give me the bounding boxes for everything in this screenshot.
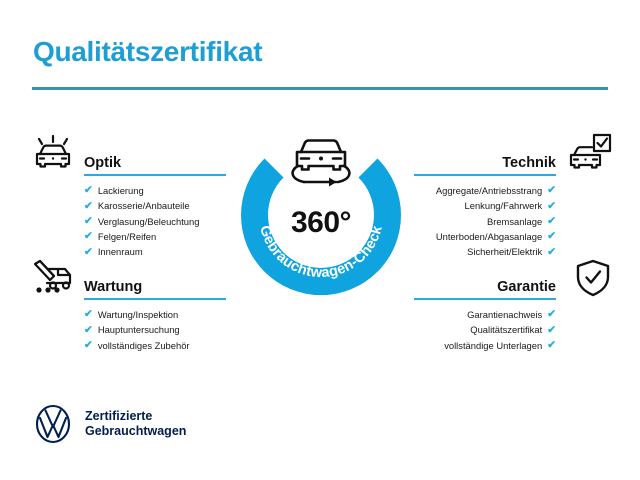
section-wartung-list: ✔Wartung/Inspektion ✔Hauptuntersuchung ✔… (84, 307, 224, 353)
section-technik: Technik Aggregate/Antriebsstrang✔ Lenkun… (416, 148, 556, 259)
check-icon: ✔ (84, 185, 93, 196)
list-item-label: Hauptuntersuchung (98, 322, 180, 337)
list-item-label: Sicherheit/Elektrik (467, 244, 542, 259)
list-item: Unterboden/Abgasanlage✔ (416, 229, 556, 244)
section-garantie: Garantie Garantienachweis✔ Qualitätszert… (416, 272, 556, 353)
section-optik-list: ✔Lackierung ✔Karosserie/Anbauteile ✔Verg… (84, 183, 224, 259)
list-item: Lenkung/Fahrwerk✔ (416, 198, 556, 213)
list-item-label: Lenkung/Fahrwerk (465, 198, 543, 213)
section-wartung-header: Wartung (84, 272, 224, 298)
footer-line-1: Zertifizierte (85, 409, 186, 424)
check-icon: ✔ (547, 201, 556, 212)
list-item-label: Unterboden/Abgasanlage (436, 229, 542, 244)
shield-check-icon (570, 257, 616, 299)
car-service-tool-icon (30, 257, 76, 299)
section-wartung-title: Wartung (84, 279, 142, 295)
section-optik-title: Optik (84, 155, 121, 171)
check-icon: ✔ (547, 309, 556, 320)
list-item: ✔Hauptuntersuchung (84, 322, 224, 337)
list-item: ✔Innenraum (84, 244, 224, 259)
list-item: vollständige Unterlagen✔ (416, 338, 556, 353)
section-garantie-list: Garantienachweis✔ Qualitätszertifikat✔ v… (416, 307, 556, 353)
check-icon: ✔ (84, 231, 93, 242)
list-item: ✔Karosserie/Anbauteile (84, 198, 224, 213)
list-item: ✔Verglasung/Beleuchtung (84, 214, 224, 229)
section-garantie-header: Garantie (416, 272, 556, 298)
section-wartung: Wartung ✔Wartung/Inspektion ✔Hauptunters… (84, 272, 224, 353)
car-shine-icon (30, 131, 76, 173)
list-item: ✔Felgen/Reifen (84, 229, 224, 244)
section-technik-title: Technik (502, 155, 556, 171)
car-checkbox-icon (566, 131, 612, 173)
title-divider (32, 87, 608, 90)
list-item-label: Lackierung (98, 183, 144, 198)
check-icon: ✔ (84, 247, 93, 258)
list-item: ✔Lackierung (84, 183, 224, 198)
check-icon: ✔ (84, 309, 93, 320)
check-icon: ✔ (547, 247, 556, 258)
volkswagen-logo (33, 404, 73, 444)
list-item: ✔vollständiges Zubehör (84, 338, 224, 353)
footer-line-2: Gebrauchtwagen (85, 424, 186, 439)
footer-brand: Zertifizierte Gebrauchtwagen (33, 404, 186, 444)
check-icon: ✔ (547, 231, 556, 242)
section-garantie-divider (414, 298, 556, 300)
section-technik-header: Technik (416, 148, 556, 174)
list-item-label: Innenraum (98, 244, 143, 259)
list-item-label: vollständige Unterlagen (444, 338, 542, 353)
list-item-label: Qualitätszertifikat (470, 322, 542, 337)
list-item: Garantienachweis✔ (416, 307, 556, 322)
list-item-label: Wartung/Inspektion (98, 307, 178, 322)
list-item: Qualitätszertifikat✔ (416, 322, 556, 337)
list-item-label: Karosserie/Anbauteile (98, 198, 190, 213)
page-title: Qualitätszertifikat (33, 36, 262, 68)
check-icon: ✔ (84, 340, 93, 351)
list-item-label: Aggregate/Antriebsstrang (436, 183, 542, 198)
check-icon: ✔ (84, 216, 93, 227)
check-icon: ✔ (84, 325, 93, 336)
list-item-label: vollständiges Zubehör (98, 338, 190, 353)
list-item-label: Verglasung/Beleuchtung (98, 214, 200, 229)
section-garantie-title: Garantie (497, 279, 556, 295)
list-item-label: Garantienachweis (467, 307, 542, 322)
section-optik-divider (84, 174, 226, 176)
section-technik-list: Aggregate/Antriebsstrang✔ Lenkung/Fahrwe… (416, 183, 556, 259)
list-item-label: Felgen/Reifen (98, 229, 156, 244)
list-item: Sicherheit/Elektrik✔ (416, 244, 556, 259)
section-optik: Optik ✔Lackierung ✔Karosserie/Anbauteile… (84, 148, 224, 259)
badge-value: 360° (228, 206, 414, 240)
check-icon: ✔ (547, 340, 556, 351)
list-item: ✔Wartung/Inspektion (84, 307, 224, 322)
section-technik-divider (414, 174, 556, 176)
section-wartung-divider (84, 298, 226, 300)
check-icon: ✔ (547, 325, 556, 336)
list-item: Aggregate/Antriebsstrang✔ (416, 183, 556, 198)
footer-brand-text: Zertifizierte Gebrauchtwagen (85, 409, 186, 439)
check-icon: ✔ (84, 201, 93, 212)
check-icon: ✔ (547, 185, 556, 196)
list-item-label: Bremsanlage (487, 214, 542, 229)
badge-360-gebrauchtwagen-check: Gebrauchtwagen-Check 360° (228, 122, 414, 308)
check-icon: ✔ (547, 216, 556, 227)
section-optik-header: Optik (84, 148, 224, 174)
list-item: Bremsanlage✔ (416, 214, 556, 229)
